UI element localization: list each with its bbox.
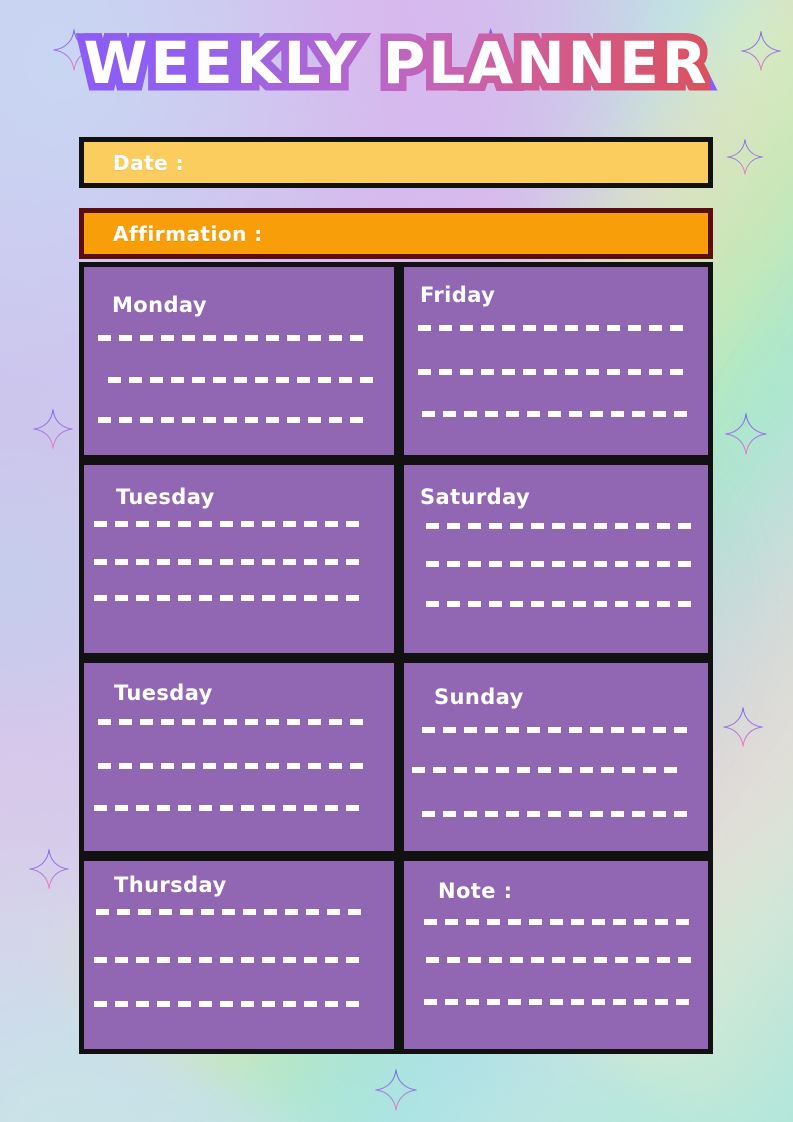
writing-line[interactable] <box>426 601 696 607</box>
writing-line[interactable] <box>424 999 692 1005</box>
planner-cell-tuesday-2[interactable]: Tuesday <box>79 460 399 658</box>
planner-cell-label: Note : <box>438 879 512 903</box>
writing-line[interactable] <box>422 811 692 817</box>
planner-cell-sunday-3[interactable]: Sunday <box>399 658 713 856</box>
page-title-wrapper: WEEKLY PLANNER WEEKLY PLANNER WEEKLY PLA… <box>0 33 793 94</box>
planner-cell-note-4[interactable]: Note : <box>399 856 713 1054</box>
planner-cell-friday-1[interactable]: Friday <box>399 262 713 460</box>
writing-line[interactable] <box>98 719 366 725</box>
planner-grid: MondayFridayTuesdaySaturdayTuesdaySunday… <box>79 262 713 1054</box>
writing-line[interactable] <box>94 521 362 527</box>
writing-line[interactable] <box>94 805 362 811</box>
writing-line[interactable] <box>98 763 366 769</box>
planner-cell-label: Tuesday <box>114 681 213 705</box>
planner-cell-label: Monday <box>112 293 207 317</box>
writing-line[interactable] <box>94 957 364 963</box>
weekly-planner-page: WEEKLY PLANNER WEEKLY PLANNER WEEKLY PLA… <box>0 0 793 1122</box>
writing-line[interactable] <box>424 919 692 925</box>
writing-line[interactable] <box>98 417 370 423</box>
writing-line[interactable] <box>94 595 362 601</box>
writing-line[interactable] <box>94 559 362 565</box>
writing-line[interactable] <box>94 1001 364 1007</box>
page-title-text: WEEKLY PLANNER <box>84 29 710 97</box>
planner-cell-saturday-2[interactable]: Saturday <box>399 460 713 658</box>
writing-line[interactable] <box>422 727 692 733</box>
planner-cell-thursday-4[interactable]: Thursday <box>79 856 399 1054</box>
planner-cell-label: Thursday <box>114 873 227 897</box>
date-label: Date : <box>84 151 184 175</box>
planner-cell-tuesday-3[interactable]: Tuesday <box>79 658 399 856</box>
planner-cell-label: Saturday <box>420 485 530 509</box>
writing-line[interactable] <box>418 325 688 331</box>
writing-line[interactable] <box>422 411 692 417</box>
planner-cell-label: Tuesday <box>116 485 215 509</box>
writing-line[interactable] <box>426 957 694 963</box>
writing-line[interactable] <box>412 767 682 773</box>
planner-cell-label: Friday <box>420 283 495 307</box>
writing-line[interactable] <box>426 561 696 567</box>
affirmation-label: Affirmation : <box>84 222 263 246</box>
writing-line[interactable] <box>96 909 366 915</box>
page-title: WEEKLY PLANNER WEEKLY PLANNER WEEKLY PLA… <box>84 33 710 94</box>
writing-line[interactable] <box>418 369 688 375</box>
affirmation-field[interactable]: Affirmation : <box>79 208 713 259</box>
writing-line[interactable] <box>426 523 696 529</box>
writing-line[interactable] <box>98 335 370 341</box>
date-field[interactable]: Date : <box>79 137 713 188</box>
writing-line[interactable] <box>108 377 380 383</box>
planner-cell-label: Sunday <box>434 685 524 709</box>
planner-cell-monday-1[interactable]: Monday <box>79 262 399 460</box>
